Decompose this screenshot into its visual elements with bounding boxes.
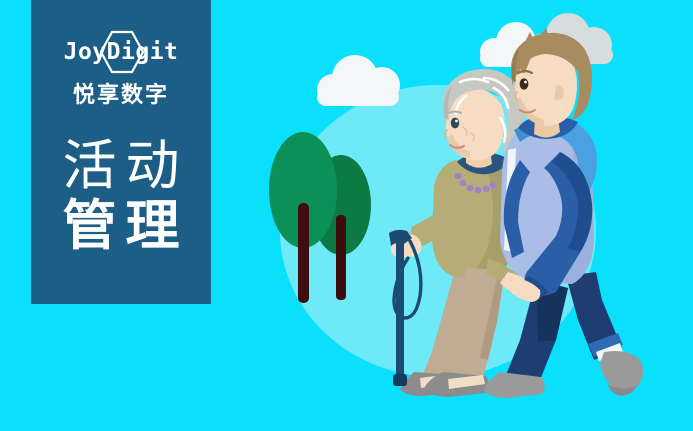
poster-canvas: JoyDigit 悦享数字 活动 管理 (0, 0, 693, 431)
logo-wordmark: JoyDigit (64, 41, 179, 64)
elder-eye (451, 118, 459, 129)
title-panel: JoyDigit 悦享数字 活动 管理 (31, 0, 211, 304)
page-title-line-1: 活动 (54, 136, 189, 196)
man-eye (520, 78, 529, 89)
page-title: 活动 管理 (54, 136, 189, 257)
page-title-line-2: 管理 (54, 196, 189, 256)
brand-chinese-name: 悦享数字 (73, 84, 169, 106)
logo-lockup: JoyDigit (51, 32, 191, 72)
